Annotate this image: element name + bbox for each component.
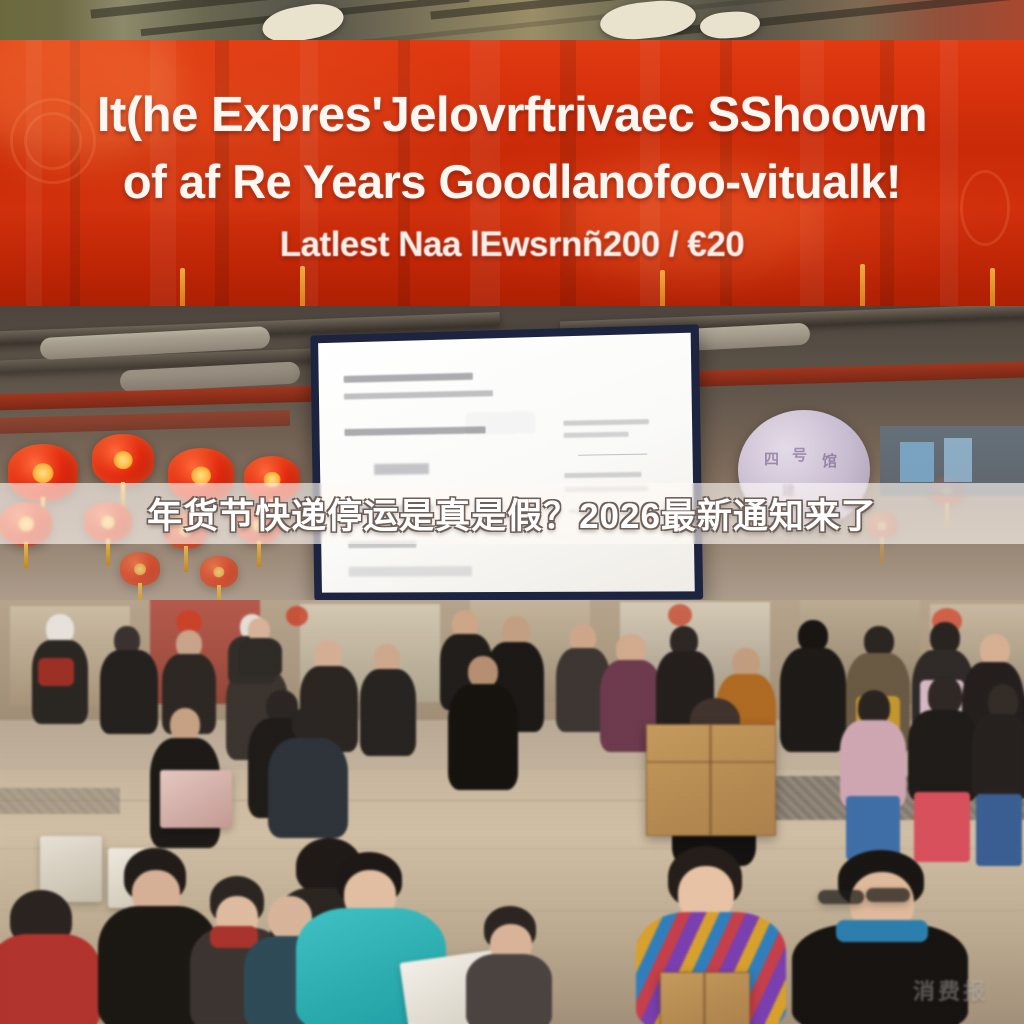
page-title: 年货节快递停运是真是假？2026最新通知来了 — [0, 483, 1024, 544]
red-lantern — [200, 556, 238, 588]
overhead-red-banner: It(he Expres'Jelovrftrivaec SShoown of a… — [0, 40, 1024, 312]
red-lantern — [92, 434, 154, 486]
parcel — [160, 770, 232, 828]
person — [30, 614, 90, 724]
person — [360, 644, 416, 756]
banner-text-block: It(he Expres'Jelovrftrivaec SShoown of a… — [0, 40, 1024, 312]
mall-interior-midground: 四 号 馆 建 — [0, 306, 1024, 616]
person — [0, 890, 100, 1024]
eyeglasses — [818, 890, 864, 904]
person — [780, 620, 846, 752]
banner-line-1: It(he Expres'Jelovrftrivaec SShoown — [97, 86, 927, 144]
cardboard-box — [660, 972, 750, 1024]
person — [908, 676, 978, 862]
person — [448, 656, 518, 790]
market-crowd — [0, 600, 1024, 1024]
person — [466, 906, 552, 1024]
person — [238, 618, 282, 676]
banner-line-2: of af Re Years Goodlanofoo-vitualk! — [123, 154, 901, 210]
red-lantern — [120, 552, 160, 586]
cardboard-box — [646, 724, 776, 836]
person — [268, 706, 348, 838]
ceiling-light — [699, 10, 761, 40]
banner-line-3: Latlest Naa lEwsrnñ200 / €20 — [280, 224, 745, 266]
ceiling-light — [598, 0, 697, 43]
hero-image: It(he Expres'Jelovrftrivaec SShoown of a… — [0, 0, 1024, 1024]
watermark: 消费报 — [913, 974, 988, 1006]
person — [972, 684, 1024, 866]
led-information-screen — [310, 324, 703, 600]
person — [840, 690, 906, 860]
eyeglasses — [866, 888, 910, 902]
